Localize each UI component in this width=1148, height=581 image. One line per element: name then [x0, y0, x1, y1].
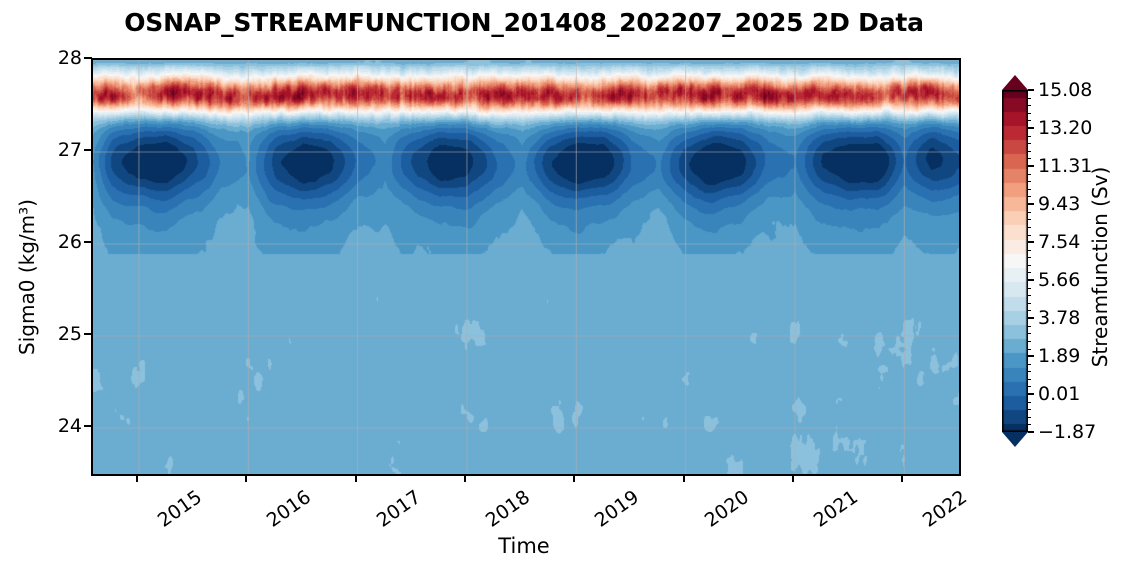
- colorbar-minor-tick: [1028, 196, 1031, 197]
- x-tick-mark: [355, 474, 357, 482]
- colorbar-tick-label: 5.66: [1038, 269, 1080, 291]
- colorbar-minor-tick: [1028, 371, 1031, 372]
- x-tick-label: 2020: [700, 486, 752, 532]
- x-tick-mark: [792, 474, 794, 482]
- heatmap-plot-area[interactable]: [91, 58, 961, 476]
- colorbar-gradient: [1002, 90, 1028, 432]
- x-axis-label: Time: [91, 534, 957, 558]
- x-tick-mark: [901, 474, 903, 482]
- colorbar-label: Streamfunction (Sv): [1088, 102, 1112, 432]
- colorbar-minor-tick: [1028, 181, 1031, 182]
- y-tick-label: 27: [36, 139, 82, 161]
- x-tick-mark: [683, 474, 685, 482]
- colorbar-tick-label: 9.43: [1038, 193, 1080, 215]
- colorbar-minor-tick: [1028, 136, 1031, 137]
- colorbar-minor-tick: [1028, 219, 1031, 220]
- colorbar-tick-label: 15.08: [1038, 79, 1092, 101]
- colorbar-minor-tick: [1028, 402, 1031, 403]
- colorbar-tick-label: 7.54: [1038, 231, 1080, 253]
- page-title: OSNAP_STREAMFUNCTION_201408_202207_2025 …: [91, 8, 957, 37]
- x-tick-mark: [464, 474, 466, 482]
- colorbar-minor-tick: [1028, 158, 1031, 159]
- y-tick-label: 26: [36, 231, 82, 253]
- colorbar-minor-tick: [1028, 120, 1031, 121]
- streamfunction-heatmap: [93, 60, 959, 474]
- colorbar-tick-label: 13.20: [1038, 117, 1092, 139]
- y-tick-label: 25: [36, 323, 82, 345]
- x-tick-label: 2022: [919, 486, 971, 532]
- x-tick-mark: [573, 474, 575, 482]
- colorbar-minor-tick: [1028, 326, 1031, 327]
- colorbar-minor-tick: [1028, 341, 1031, 342]
- y-tick-label: 28: [36, 47, 82, 69]
- colorbar-minor-tick: [1028, 227, 1031, 228]
- colorbar-minor-tick: [1028, 257, 1031, 258]
- x-tick-label: 2019: [591, 486, 643, 532]
- colorbar-minor-tick: [1028, 250, 1031, 251]
- colorbar-tick-label: 11.31: [1038, 155, 1092, 177]
- colorbar-minor-tick: [1028, 174, 1031, 175]
- y-axis-tick-labels: 2827262524: [30, 58, 82, 472]
- colorbar-minor-tick: [1028, 424, 1031, 425]
- colorbar-tick-mark: [1028, 431, 1034, 433]
- colorbar-extend-max-arrow: [1002, 75, 1028, 90]
- colorbar-minor-tick: [1028, 364, 1031, 365]
- colorbar-tick-mark: [1028, 165, 1034, 167]
- colorbar-minor-tick: [1028, 349, 1031, 350]
- colorbar-tick-mark: [1028, 203, 1034, 205]
- colorbar-tick-label: 0.01: [1038, 383, 1080, 405]
- colorbar-minor-tick: [1028, 265, 1031, 266]
- colorbar-minor-tick: [1028, 143, 1031, 144]
- colorbar-minor-tick: [1028, 98, 1031, 99]
- colorbar-tick-mark: [1028, 241, 1034, 243]
- colorbar-tick-mark: [1028, 393, 1034, 395]
- x-tick-label: 2021: [810, 486, 862, 532]
- colorbar-minor-tick: [1028, 333, 1031, 334]
- colorbar-tick-mark: [1028, 279, 1034, 281]
- colorbar-minor-tick: [1028, 303, 1031, 304]
- y-tick-label: 24: [36, 415, 82, 437]
- colorbar-minor-tick: [1028, 386, 1031, 387]
- colorbar-minor-tick: [1028, 288, 1031, 289]
- colorbar-extend-min-arrow: [1002, 432, 1028, 447]
- colorbar-minor-tick: [1028, 409, 1031, 410]
- colorbar-minor-tick: [1028, 105, 1031, 106]
- x-tick-label: 2016: [263, 486, 315, 532]
- colorbar-tick-label: 3.78: [1038, 307, 1080, 329]
- colorbar-tick-label: 1.89: [1038, 345, 1080, 367]
- colorbar-minor-tick: [1028, 235, 1031, 236]
- colorbar-minor-tick: [1028, 417, 1031, 418]
- colorbar[interactable]: [1002, 90, 1028, 432]
- figure-canvas: OSNAP_STREAMFUNCTION_201408_202207_2025 …: [0, 0, 1148, 581]
- colorbar-tick-mark: [1028, 89, 1034, 91]
- x-tick-label: 2017: [372, 486, 424, 532]
- colorbar-minor-tick: [1028, 151, 1031, 152]
- colorbar-minor-tick: [1028, 113, 1031, 114]
- x-tick-mark: [245, 474, 247, 482]
- x-tick-label: 2018: [482, 486, 534, 532]
- colorbar-minor-tick: [1028, 212, 1031, 213]
- colorbar-minor-tick: [1028, 379, 1031, 380]
- colorbar-minor-tick: [1028, 295, 1031, 296]
- colorbar-minor-tick: [1028, 189, 1031, 190]
- colorbar-minor-tick: [1028, 272, 1031, 273]
- x-tick-mark: [136, 474, 138, 482]
- colorbar-tick-mark: [1028, 127, 1034, 129]
- colorbar-minor-tick: [1028, 310, 1031, 311]
- colorbar-tick-mark: [1028, 317, 1034, 319]
- colorbar-tick-mark: [1028, 355, 1034, 357]
- x-tick-label: 2015: [154, 486, 206, 532]
